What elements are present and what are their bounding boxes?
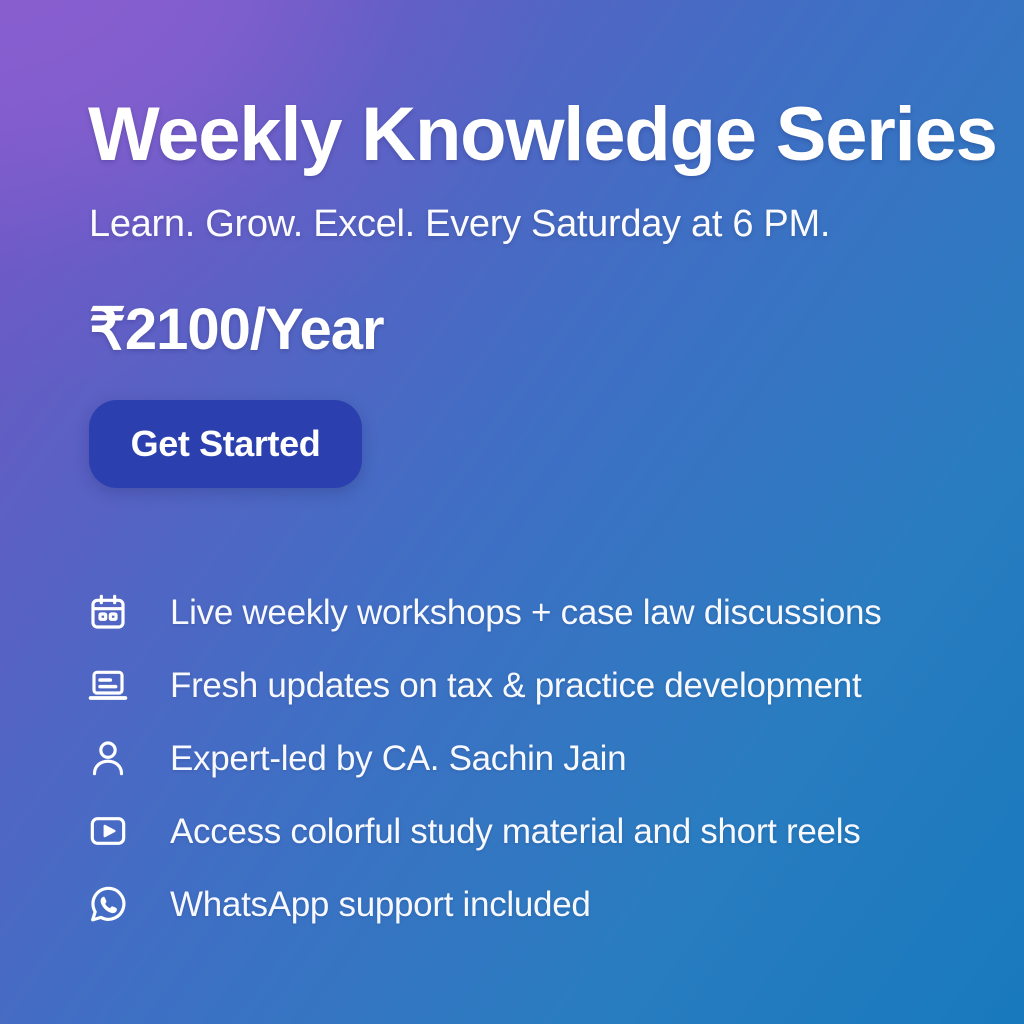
calendar-icon xyxy=(88,592,128,632)
list-item: Access colorful study material and short… xyxy=(88,811,968,851)
list-item-label: Expert-led by CA. Sachin Jain xyxy=(170,741,626,776)
whatsapp-icon xyxy=(88,884,128,924)
video-play-icon xyxy=(88,811,128,851)
list-item-label: Access colorful study material and short… xyxy=(170,814,860,849)
list-item: Expert-led by CA. Sachin Jain xyxy=(88,738,968,778)
list-item-label: Fresh updates on tax & practice developm… xyxy=(170,668,861,703)
list-item: WhatsApp support included xyxy=(88,884,968,924)
feature-list: Live weekly workshops + case law discuss… xyxy=(88,592,968,924)
page-subtitle: Learn. Grow. Excel. Every Saturday at 6 … xyxy=(89,203,830,247)
page-title: Weekly Knowledge Series xyxy=(88,95,997,175)
list-item: Fresh updates on tax & practice developm… xyxy=(88,665,968,705)
list-item-label: Live weekly workshops + case law discuss… xyxy=(170,595,881,630)
price-label: ₹2100/Year xyxy=(89,300,384,361)
get-started-button[interactable]: Get Started xyxy=(89,400,362,488)
list-item: Live weekly workshops + case law discuss… xyxy=(88,592,968,632)
list-item-label: WhatsApp support included xyxy=(170,887,591,922)
laptop-icon xyxy=(88,665,128,705)
person-icon xyxy=(88,738,128,778)
promo-poster: Weekly Knowledge Series Learn. Grow. Exc… xyxy=(0,0,1024,1024)
